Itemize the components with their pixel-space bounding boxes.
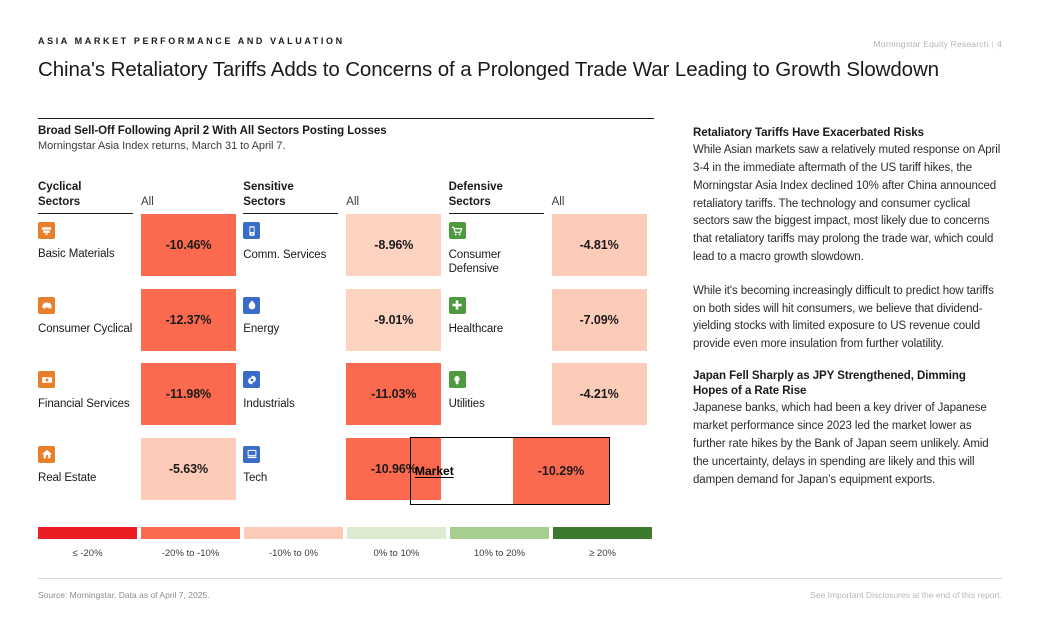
sector-return-value[interactable]: -4.81% [552,214,647,276]
heatmap-row: Financial Services-11.98%Industrials-11.… [38,363,654,438]
heatmap-group-cell: Industrials-11.03% [243,363,448,438]
flame-icon [243,297,260,314]
shopping-cart-icon [449,222,466,239]
group-title-line2: Sectors [449,195,552,210]
commentary-heading: Japan Fell Sharply as JPY Strengthened, … [693,369,1003,399]
legend-item: 0% to 10% [347,527,446,559]
sector-name[interactable]: Industrials [243,397,339,412]
medical-cross-icon [449,297,466,314]
sector-name[interactable]: Tech [243,471,339,486]
sector-return-value[interactable]: -5.63% [141,438,236,500]
group-title-cell: CyclicalSectors [38,172,141,214]
sector-value-cell: -4.21% [552,363,654,438]
commentary-column: Retaliatory Tariffs Have Exacerbated Ris… [693,126,1003,490]
market-value-cell: -10.29% [513,438,609,504]
sector-label-cell: Healthcare [449,289,552,364]
sector-group-header-defensive: DefensiveSectorsAll [449,172,654,214]
sector-value-cell: -5.63% [141,438,243,513]
sector-name[interactable]: Energy [243,322,339,337]
research-brand-label: Morningstar Equity Research [874,39,989,49]
sector-return-value[interactable]: -4.21% [552,363,647,425]
heatmap-group-cell: Energy-9.01% [243,289,448,364]
exhibit-title: Broad Sell-Off Following April 2 With Al… [38,125,654,137]
group-title-line1: Cyclical [38,180,141,195]
section-kicker: Asia Market Performance and Valuation [38,36,1002,46]
sector-group-header-cyclical: CyclicalSectorsAll [38,172,243,214]
exhibit-top-rule [38,118,654,119]
legend-label: ≥ 20% [553,548,652,559]
commentary-body: While it's becoming increasingly difficu… [693,283,1003,354]
sector-return-value[interactable]: -10.46% [141,214,236,276]
group-all-column-header: All [552,172,654,214]
footer-rule [38,578,1002,579]
heatmap-group-cell: Basic Materials-10.46% [38,214,243,289]
sector-name[interactable]: Basic Materials [38,247,134,262]
exhibit-header: Broad Sell-Off Following April 2 With Al… [38,118,654,152]
sector-label-cell: Real Estate [38,438,141,513]
sector-value-cell: -7.09% [552,289,654,364]
legend-label: ≤ -20% [38,548,137,559]
legend-swatch [347,527,446,539]
commentary-body: While Asian markets saw a relatively mut… [693,142,1003,267]
group-title-line2: Sectors [38,195,141,210]
banknote-icon [38,371,55,388]
sector-name[interactable]: Consumer Cyclical [38,322,134,337]
heatmap-group-cell: Comm. Services-8.96% [243,214,448,289]
sector-name[interactable]: Comm. Services [243,248,339,263]
sector-label-cell: Industrials [243,363,346,438]
sector-name[interactable]: Healthcare [449,322,545,337]
legend-label: -10% to 0% [244,548,343,559]
gear-icon [243,371,260,388]
market-label-cell: Market [411,438,513,504]
column-header-all: All [552,195,654,210]
legend-label: 0% to 10% [347,548,446,559]
heatmap-group-cell: Healthcare-7.09% [449,289,654,364]
sector-return-value[interactable]: -9.01% [346,289,441,351]
lightbulb-icon [449,371,466,388]
house-icon [38,446,55,463]
sector-return-value[interactable]: -8.96% [346,214,441,276]
group-title-line2: Sectors [243,195,346,210]
commentary-gap [693,354,1003,369]
sector-label-cell: Basic Materials [38,214,141,289]
car-icon [38,297,55,314]
color-scale-legend: ≤ -20%-20% to -10%-10% to 0%0% to 10%10%… [38,527,652,559]
group-title-line1: Sensitive [243,180,346,195]
legend-item: 10% to 20% [450,527,549,559]
group-title-line1: Defensive [449,180,552,195]
footer-source: Source: Morningstar. Data as of April 7,… [38,590,210,600]
bricks-icon [38,222,55,239]
commentary-body: Japanese banks, which had been a key dri… [693,400,1003,489]
heatmap-group-cell: Real Estate-5.63% [38,438,243,513]
legend-swatch [244,527,343,539]
sector-label-cell: Consumer Cyclical [38,289,141,364]
column-header-all: All [346,195,448,210]
sector-group-header-sensitive: SensitiveSectorsAll [243,172,448,214]
heatmap-row: Consumer Cyclical-12.37%Energy-9.01%Heal… [38,289,654,364]
sector-value-cell: -11.98% [141,363,243,438]
sector-value-cell: -9.01% [346,289,448,364]
page-number: 4 [997,39,1002,49]
market-label: Market [415,464,454,478]
heatmap-group-cell: Consumer Cyclical-12.37% [38,289,243,364]
legend-label: -20% to -10% [141,548,240,559]
group-title-cell: SensitiveSectors [243,172,346,214]
sector-return-value[interactable]: -11.98% [141,363,236,425]
heatmap-row: Basic Materials-10.46%Comm. Services-8.9… [38,214,654,289]
sector-value-cell: -11.03% [346,363,448,438]
header-attribution: Morningstar Equity Research|4 [874,39,1002,49]
footer-disclosure: See Important Disclosures at the end of … [810,590,1002,600]
phone-icon [243,222,260,239]
sector-label-cell: Energy [243,289,346,364]
header-separator: | [989,39,997,49]
heatmap-header-row: CyclicalSectorsAllSensitiveSectorsAllDef… [38,172,654,214]
legend-label: 10% to 20% [450,548,549,559]
page-header: Asia Market Performance and Valuation Mo… [38,36,1002,82]
heatmap-group-cell: Consumer Defensive-4.81% [449,214,654,289]
sector-label-cell: Tech [243,438,346,513]
legend-swatch [141,527,240,539]
market-summary-row: Market -10.29% [410,437,610,505]
legend-item: ≥ 20% [553,527,652,559]
exhibit-subtitle: Morningstar Asia Index returns, March 31… [38,140,654,152]
report-page: Asia Market Performance and Valuation Mo… [0,0,1040,640]
column-header-all: All [141,195,243,210]
group-all-column-header: All [141,172,243,214]
computer-icon [243,446,260,463]
legend-item: ≤ -20% [38,527,137,559]
heatmap-group-cell: Utilities-4.21% [449,363,654,438]
sector-value-cell: -4.81% [552,214,654,289]
sector-label-cell: Utilities [449,363,552,438]
legend-item: -10% to 0% [244,527,343,559]
page-title: China's Retaliatory Tariffs Adds to Conc… [38,58,1002,82]
legend-swatch [553,527,652,539]
sector-name[interactable]: Real Estate [38,471,134,486]
sector-return-value[interactable]: -11.03% [346,363,441,425]
commentary-heading: Retaliatory Tariffs Have Exacerbated Ris… [693,126,1003,141]
sector-name[interactable]: Utilities [449,397,545,412]
legend-swatch [450,527,549,539]
group-title-cell: DefensiveSectors [449,172,552,214]
sector-label-cell: Comm. Services [243,214,346,289]
sector-name[interactable]: Consumer Defensive [449,248,545,278]
commentary-gap [693,267,1003,282]
legend-swatch [38,527,137,539]
group-all-column-header: All [346,172,448,214]
sector-value-cell: -10.46% [141,214,243,289]
heatmap-group-cell: Financial Services-11.98% [38,363,243,438]
sector-return-value[interactable]: -7.09% [552,289,647,351]
sector-name[interactable]: Financial Services [38,397,134,412]
sector-value-cell: -8.96% [346,214,448,289]
sector-label-cell: Consumer Defensive [449,214,552,289]
legend-item: -20% to -10% [141,527,240,559]
sector-label-cell: Financial Services [38,363,141,438]
sector-return-value[interactable]: -12.37% [141,289,236,351]
sector-value-cell: -12.37% [141,289,243,364]
